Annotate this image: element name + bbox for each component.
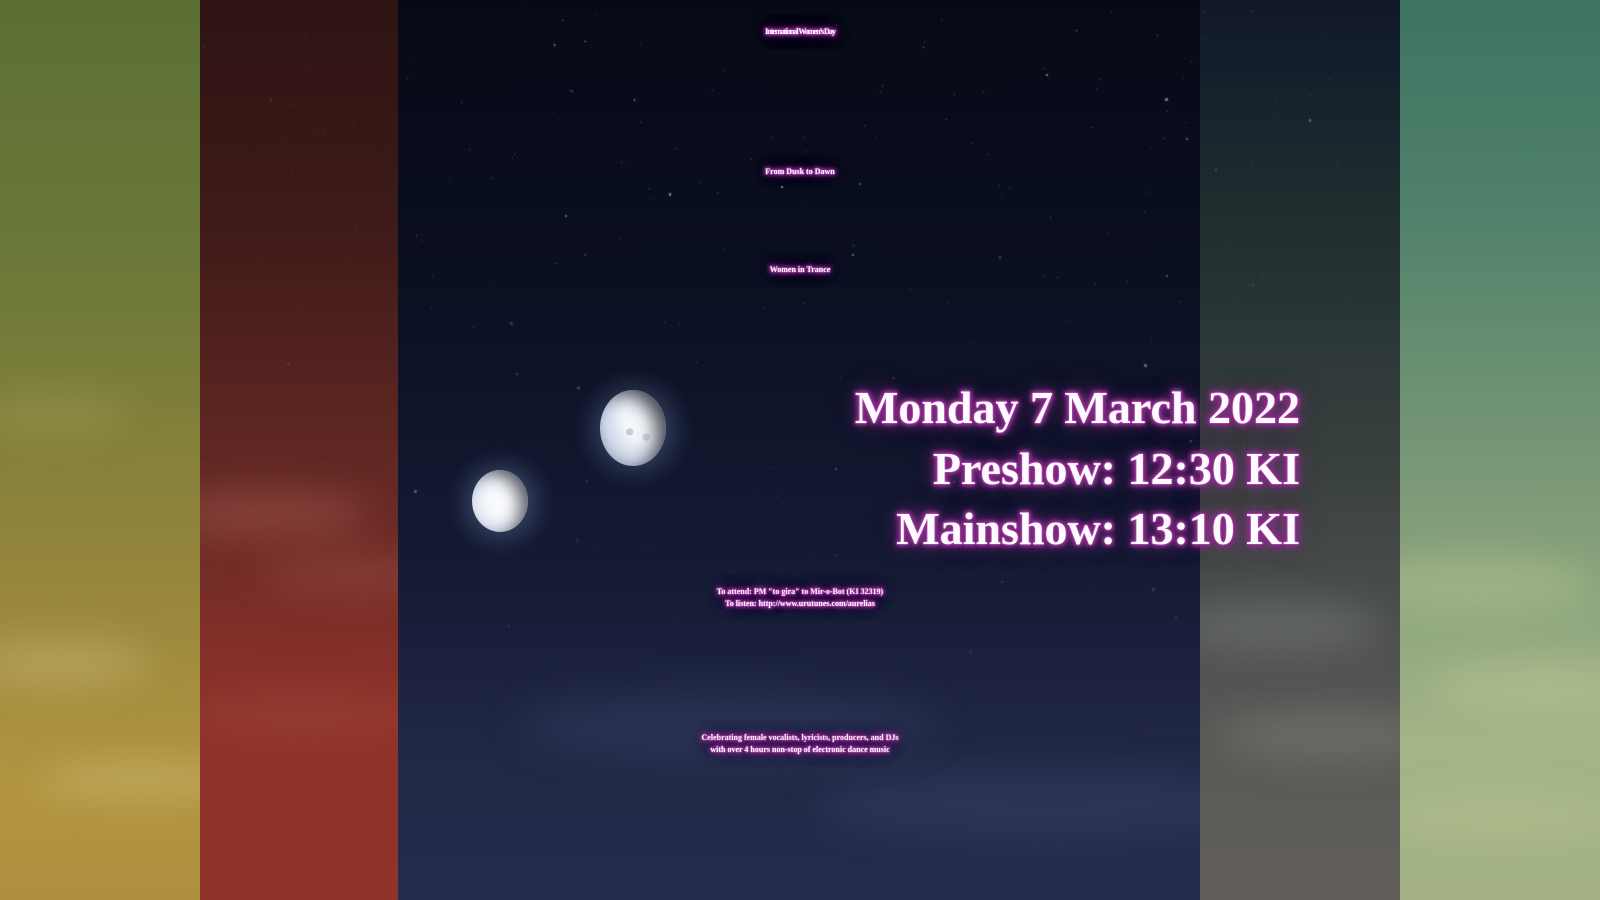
attend-instructions: To attend: PM ″to gira″ to Mir-o-Bot (KI… <box>0 586 1600 598</box>
page-title: International Women’s Day <box>0 28 1600 36</box>
subtitle-line-2: Women in Trance <box>0 266 1600 275</box>
schedule-block: Monday 7 March 2022 Preshow: 12:30 KI Ma… <box>855 378 1300 560</box>
tagline-block: Celebrating female vocalists, lyricists,… <box>0 732 1600 757</box>
tagline-line-2: with over 4 hours non-stop of electronic… <box>0 744 1600 756</box>
schedule-date: Monday 7 March 2022 <box>855 378 1300 439</box>
poster-text-layer: International Women’s Day From Dusk to D… <box>0 0 1600 900</box>
schedule-mainshow-time: Mainshow: 13:10 KI <box>855 499 1300 560</box>
listen-stream-link[interactable]: To listen: http://www.urutunes.com/aurel… <box>0 598 1600 610</box>
tagline-line-1: Celebrating female vocalists, lyricists,… <box>0 732 1600 744</box>
schedule-preshow-time: Preshow: 12:30 KI <box>855 439 1300 500</box>
subtitle-line-1: From Dusk to Dawn <box>0 168 1600 177</box>
event-poster: International Women’s Day From Dusk to D… <box>0 0 1600 900</box>
contact-block: To attend: PM ″to gira″ to Mir-o-Bot (KI… <box>0 586 1600 610</box>
